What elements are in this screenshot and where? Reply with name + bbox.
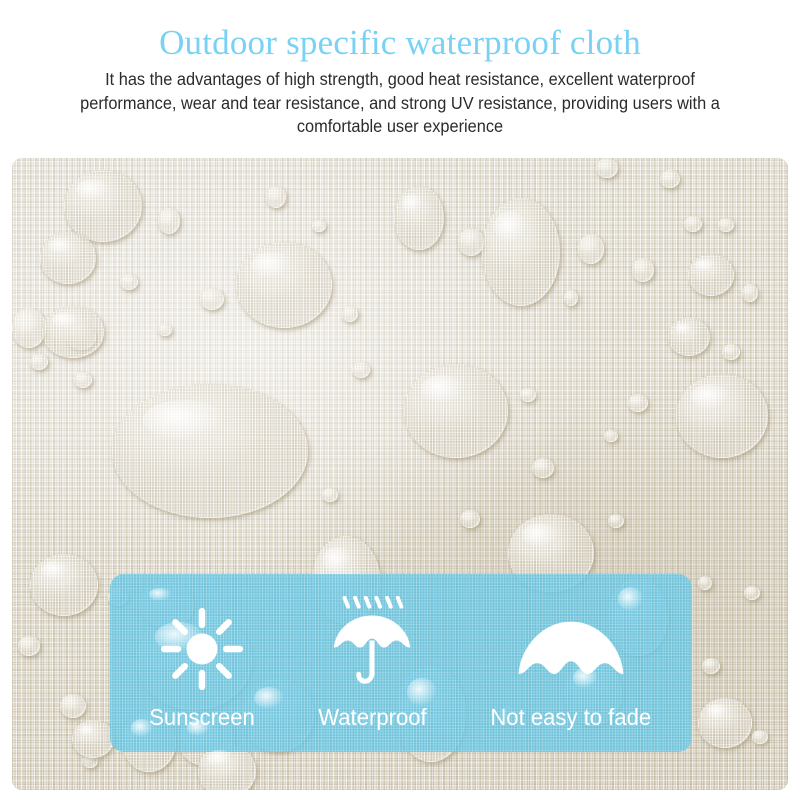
water-droplet <box>718 218 734 232</box>
water-droplet <box>668 318 710 356</box>
water-droplet <box>608 514 624 528</box>
water-droplet <box>564 290 578 306</box>
page-subtitle: It has the advantages of high strength, … <box>79 68 722 139</box>
water-droplet <box>520 388 536 402</box>
water-droplet <box>266 186 286 208</box>
water-droplet <box>18 636 40 656</box>
water-droplet <box>702 658 720 674</box>
water-droplet <box>688 254 734 296</box>
water-droplet <box>42 306 104 358</box>
water-droplet <box>632 258 654 282</box>
water-droplet <box>158 324 172 336</box>
badge-label-waterproof: Waterproof <box>318 704 426 730</box>
water-droplet <box>460 510 480 528</box>
water-droplet <box>12 308 46 348</box>
water-droplet <box>342 306 358 322</box>
water-droplet <box>604 430 618 442</box>
water-droplet <box>120 274 138 290</box>
water-droplet <box>64 170 142 242</box>
water-droplet <box>684 216 702 232</box>
water-droplet <box>722 344 740 360</box>
water-droplet <box>404 364 508 458</box>
water-droplet <box>698 576 712 590</box>
water-droplet <box>698 698 752 748</box>
parasol-icon <box>515 618 627 692</box>
water-droplet <box>394 186 444 250</box>
water-droplet <box>532 458 554 478</box>
water-droplet <box>676 374 768 458</box>
badge-label-not-easy-to-fade: Not easy to fade <box>491 704 652 730</box>
water-droplet <box>60 694 86 718</box>
umbrella-rain-icon <box>327 596 417 692</box>
water-droplet <box>74 372 92 388</box>
header: Outdoor specific waterproof cloth It has… <box>0 0 800 158</box>
badge-not-easy-to-fade[interactable]: Not easy to fade <box>487 618 655 730</box>
water-droplet <box>742 284 758 302</box>
water-droplet <box>158 208 180 234</box>
water-droplet <box>30 554 98 616</box>
page-title: Outdoor specific waterproof cloth <box>0 22 800 64</box>
water-droplet <box>628 394 648 412</box>
water-droplet <box>200 288 224 310</box>
water-droplet <box>752 730 768 744</box>
badge-waterproof[interactable]: Waterproof <box>316 596 429 730</box>
product-feature-banner: Outdoor specific waterproof cloth It has… <box>0 0 800 800</box>
water-droplet <box>30 354 48 370</box>
water-droplet <box>578 234 604 264</box>
water-droplet <box>112 384 308 518</box>
water-droplet <box>236 242 332 328</box>
water-droplet <box>458 228 484 256</box>
water-droplet <box>744 586 760 600</box>
water-droplet <box>596 158 618 178</box>
fabric-photo: Sunscreen <box>12 158 788 790</box>
water-droplet <box>352 362 370 378</box>
water-droplet <box>660 170 680 188</box>
water-droplet <box>72 720 114 758</box>
water-droplet <box>322 488 338 502</box>
water-droplet <box>482 198 560 306</box>
water-droplet <box>312 220 326 232</box>
water-droplet <box>40 232 96 284</box>
